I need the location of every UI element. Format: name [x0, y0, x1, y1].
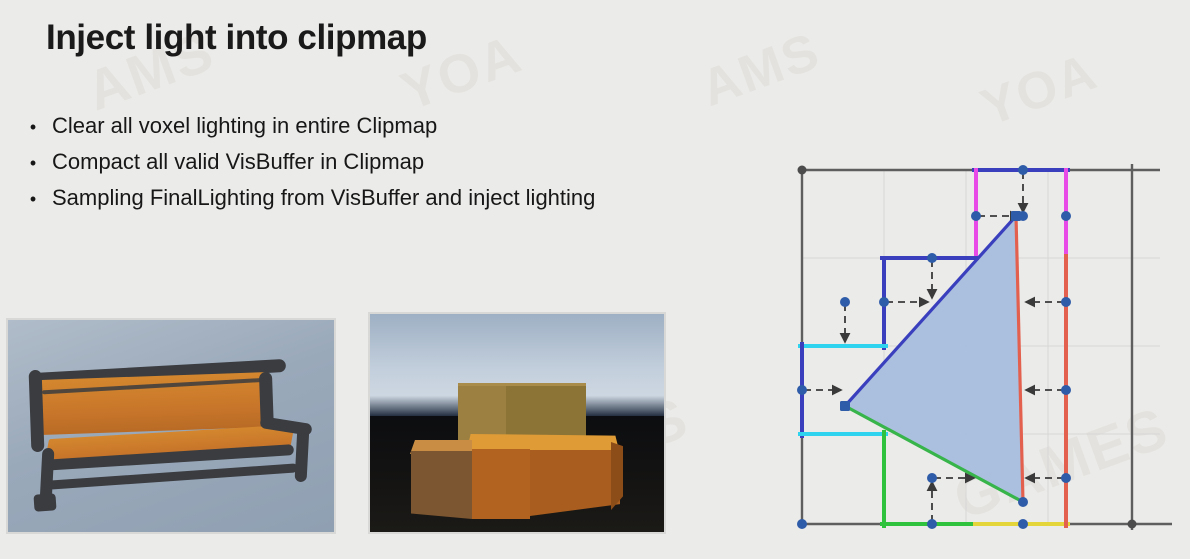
list-item-label: Compact all valid VisBuffer in Clipmap [52, 149, 424, 175]
list-item-label: Sampling FinalLighting from VisBuffer an… [52, 185, 595, 211]
bullet-list: • Clear all voxel lighting in entire Cli… [14, 113, 595, 221]
list-item: • Compact all valid VisBuffer in Clipmap [14, 149, 595, 175]
voxel-backrest-left [458, 384, 506, 441]
voxel-backrest-right [506, 384, 586, 441]
voxel-seat-front-left [411, 451, 472, 519]
bullet-marker: • [14, 153, 52, 174]
watermark-text: AMS [693, 21, 828, 119]
bench-left-foot [33, 493, 56, 511]
clipmap-voxel-injection-diagram [780, 148, 1190, 548]
voxelized-bench-render [368, 312, 666, 534]
photoreal-bench-render [6, 318, 336, 534]
list-item: • Clear all voxel lighting in entire Cli… [14, 113, 595, 139]
list-item: • Sampling FinalLighting from VisBuffer … [14, 185, 595, 211]
page-title: Inject light into clipmap [46, 18, 427, 58]
bullet-marker: • [14, 117, 52, 138]
voxel-backrest-top-edge [458, 383, 586, 386]
bullet-marker: • [14, 189, 52, 210]
watermark-text: YOA [973, 42, 1105, 139]
voxel-seat-front-mid [472, 449, 530, 519]
list-item-label: Clear all voxel lighting in entire Clipm… [52, 113, 437, 139]
